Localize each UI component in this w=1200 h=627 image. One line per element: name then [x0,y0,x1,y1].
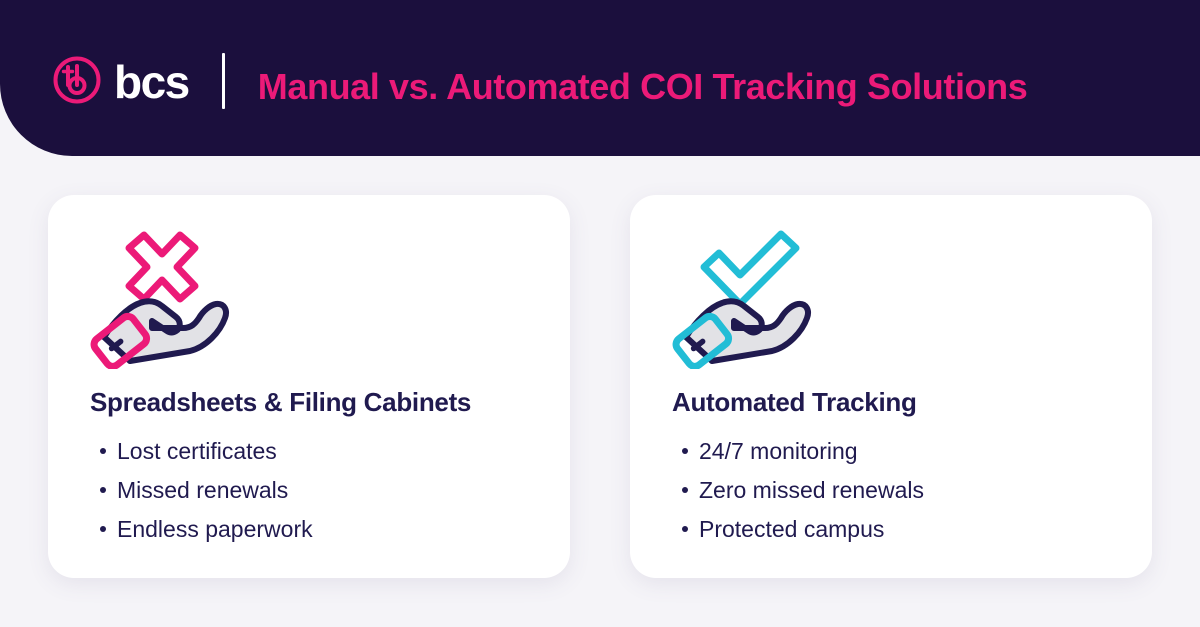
card-title: Spreadsheets & Filing Cabinets [90,387,570,418]
card-automated: Automated Tracking 24/7 monitoring Zero … [630,195,1152,578]
bullet-dot-icon [682,487,688,493]
bullet-dot-icon [682,448,688,454]
list-item: Lost certificates [100,432,570,471]
list-item-label: 24/7 monitoring [699,438,858,464]
bcs-circle-logo-icon [52,55,102,105]
header-bar: bcs Manual vs. Automated COI Tracking So… [0,0,1200,156]
list-item: Protected campus [682,510,1152,549]
list-item-label: Lost certificates [117,438,277,464]
card-title: Automated Tracking [672,387,1152,418]
list-item: 24/7 monitoring [682,432,1152,471]
hand-holding-check-icon [664,229,824,369]
list-item: Endless paperwork [100,510,570,549]
list-item: Missed renewals [100,471,570,510]
bullet-dot-icon [100,526,106,532]
comparison-cards: Spreadsheets & Filing Cabinets Lost cert… [48,195,1152,578]
list-item-label: Missed renewals [117,477,288,503]
brand-lockup: bcs Manual vs. Automated COI Tracking So… [52,44,1027,116]
bullet-dot-icon [682,526,688,532]
hand-holding-x-icon [82,229,242,369]
header-divider [222,53,225,109]
card-bullet-list: Lost certificates Missed renewals Endles… [100,432,570,549]
list-item-label: Endless paperwork [117,516,313,542]
bullet-dot-icon [100,487,106,493]
card-bullet-list: 24/7 monitoring Zero missed renewals Pro… [682,432,1152,549]
logo-wordmark: bcs [114,59,189,105]
list-item: Zero missed renewals [682,471,1152,510]
list-item-label: Protected campus [699,516,884,542]
list-item-label: Zero missed renewals [699,477,924,503]
card-manual: Spreadsheets & Filing Cabinets Lost cert… [48,195,570,578]
page-title: Manual vs. Automated COI Tracking Soluti… [258,69,1028,105]
bullet-dot-icon [100,448,106,454]
